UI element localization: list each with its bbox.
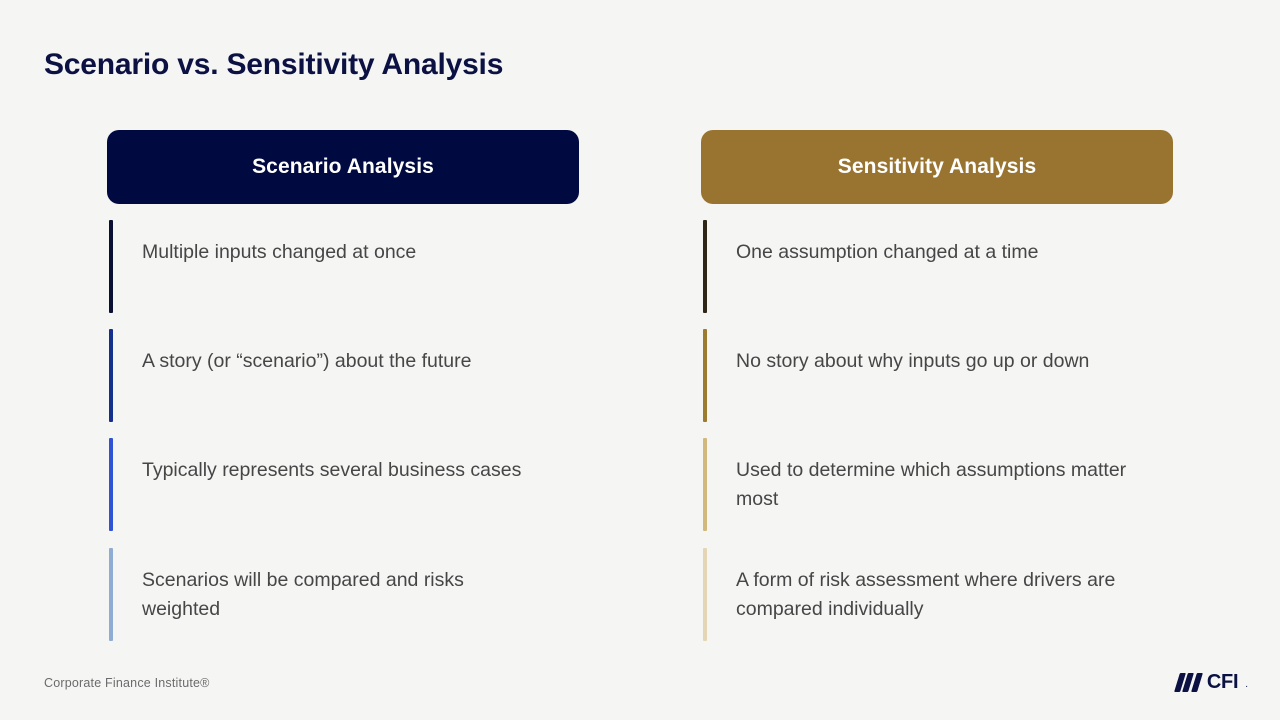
column-scenario-analysis: Scenario Analysis Multiple inputs change… bbox=[107, 130, 579, 641]
footer-attribution: Corporate Finance Institute® bbox=[44, 676, 210, 690]
accent-bar bbox=[703, 329, 707, 422]
item-list-sensitivity-analysis: One assumption changed at a time No stor… bbox=[701, 220, 1173, 641]
list-item-text: No story about why inputs go up or down bbox=[736, 329, 1089, 376]
list-item-text: Used to determine which assumptions matt… bbox=[736, 438, 1136, 514]
accent-bar bbox=[703, 548, 707, 641]
accent-bar bbox=[109, 220, 113, 313]
list-item: A form of risk assessment where drivers … bbox=[701, 548, 1173, 641]
cfi-logo: CFI . bbox=[1177, 672, 1248, 692]
list-item: Multiple inputs changed at once bbox=[107, 220, 579, 313]
column-header-label: Scenario Analysis bbox=[252, 155, 434, 179]
list-item: One assumption changed at a time bbox=[701, 220, 1173, 313]
column-header-scenario-analysis: Scenario Analysis bbox=[107, 130, 579, 204]
slide-canvas: Scenario vs. Sensitivity Analysis Scenar… bbox=[0, 0, 1280, 720]
cfi-logo-mark-icon bbox=[1177, 673, 1200, 692]
accent-bar bbox=[703, 438, 707, 531]
list-item-text: Typically represents several business ca… bbox=[142, 438, 521, 485]
list-item-text: A form of risk assessment where drivers … bbox=[736, 548, 1136, 624]
list-item: No story about why inputs go up or down bbox=[701, 329, 1173, 422]
list-item-text: One assumption changed at a time bbox=[736, 220, 1038, 267]
list-item: Typically represents several business ca… bbox=[107, 438, 579, 531]
accent-bar bbox=[703, 220, 707, 313]
list-item-text: Multiple inputs changed at once bbox=[142, 220, 416, 267]
accent-bar bbox=[109, 329, 113, 422]
list-item: Scenarios will be compared and risks wei… bbox=[107, 548, 579, 641]
accent-bar bbox=[109, 438, 113, 531]
list-item: A story (or “scenario”) about the future bbox=[107, 329, 579, 422]
accent-bar bbox=[109, 548, 113, 641]
item-list-scenario-analysis: Multiple inputs changed at once A story … bbox=[107, 220, 579, 641]
list-item-text: A story (or “scenario”) about the future bbox=[142, 329, 471, 376]
column-sensitivity-analysis: Sensitivity Analysis One assumption chan… bbox=[701, 130, 1173, 641]
page-title: Scenario vs. Sensitivity Analysis bbox=[44, 48, 503, 82]
column-header-sensitivity-analysis: Sensitivity Analysis bbox=[701, 130, 1173, 204]
cfi-logo-dot: . bbox=[1245, 679, 1248, 692]
cfi-logo-wordmark: CFI bbox=[1207, 672, 1238, 692]
list-item-text: Scenarios will be compared and risks wei… bbox=[142, 548, 542, 624]
list-item: Used to determine which assumptions matt… bbox=[701, 438, 1173, 531]
column-header-label: Sensitivity Analysis bbox=[838, 155, 1036, 179]
